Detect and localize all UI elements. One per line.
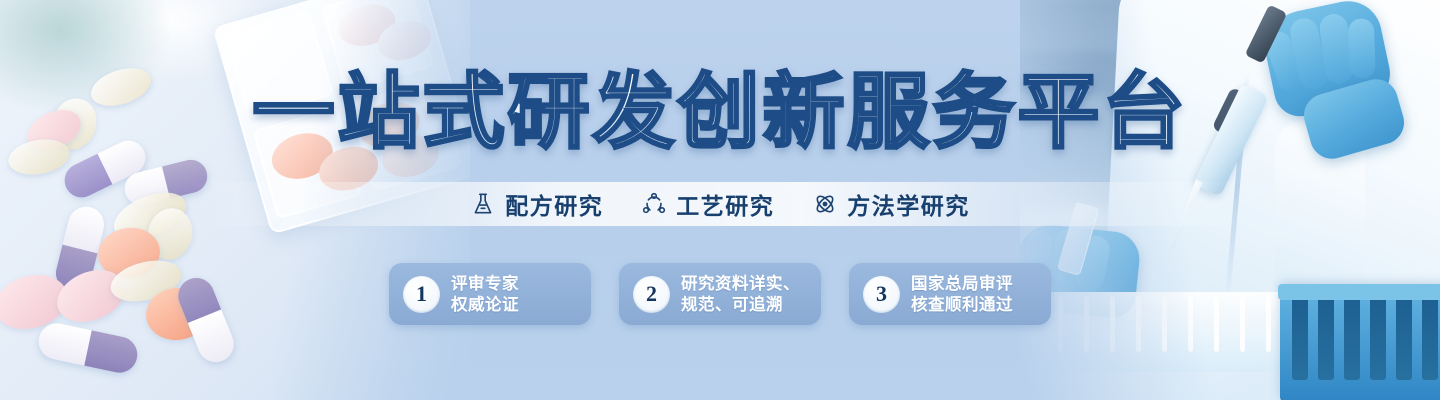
feature-card-line2: 规范、可追溯: [681, 294, 800, 315]
feature-card-text: 评审专家 权威论证: [451, 273, 519, 315]
feature-badge-number: 1: [403, 276, 440, 313]
service-category-formulation[interactable]: 配方研究: [470, 187, 603, 221]
feature-card-list: 1 评审专家 权威论证 2 研究资料详实、 规范、可追溯 3 国家总局审评 核查…: [0, 263, 1440, 325]
feature-card-line1: 评审专家: [451, 273, 519, 294]
service-category-process[interactable]: 工艺研究: [641, 187, 774, 221]
service-category-methodology[interactable]: 方法学研究: [812, 187, 970, 221]
feature-card-3[interactable]: 3 国家总局审评 核查顺利通过: [849, 263, 1051, 325]
service-category-label: 配方研究: [505, 187, 603, 221]
feature-card-text: 研究资料详实、 规范、可追溯: [681, 273, 800, 315]
pipette-plunger: [1245, 4, 1288, 63]
atom-icon: [812, 191, 838, 217]
promo-banner: 一站式研发创新服务平台 配方研究: [0, 0, 1440, 400]
feature-card-line2: 核查顺利通过: [911, 294, 1013, 315]
purple-capsule: [35, 320, 140, 376]
feature-card-2[interactable]: 2 研究资料详实、 规范、可追溯: [619, 263, 821, 325]
feature-badge-number: 2: [633, 276, 670, 313]
feature-card-line2: 权威论证: [451, 294, 519, 315]
feature-card-line1: 研究资料详实、: [681, 273, 800, 294]
feature-card-line1: 国家总局审评: [911, 273, 1013, 294]
feature-badge-number: 3: [863, 276, 900, 313]
service-category-list: 配方研究 工艺研究: [0, 184, 1440, 224]
service-category-label: 工艺研究: [676, 187, 774, 221]
feature-card-text: 国家总局审评 核查顺利通过: [911, 273, 1013, 315]
banner-title: 一站式研发创新服务平台: [0, 63, 1440, 163]
service-category-label: 方法学研究: [847, 187, 970, 221]
feature-card-1[interactable]: 1 评审专家 权威论证: [389, 263, 591, 325]
flask-icon: [470, 191, 496, 217]
molecule-icon: [641, 191, 667, 217]
